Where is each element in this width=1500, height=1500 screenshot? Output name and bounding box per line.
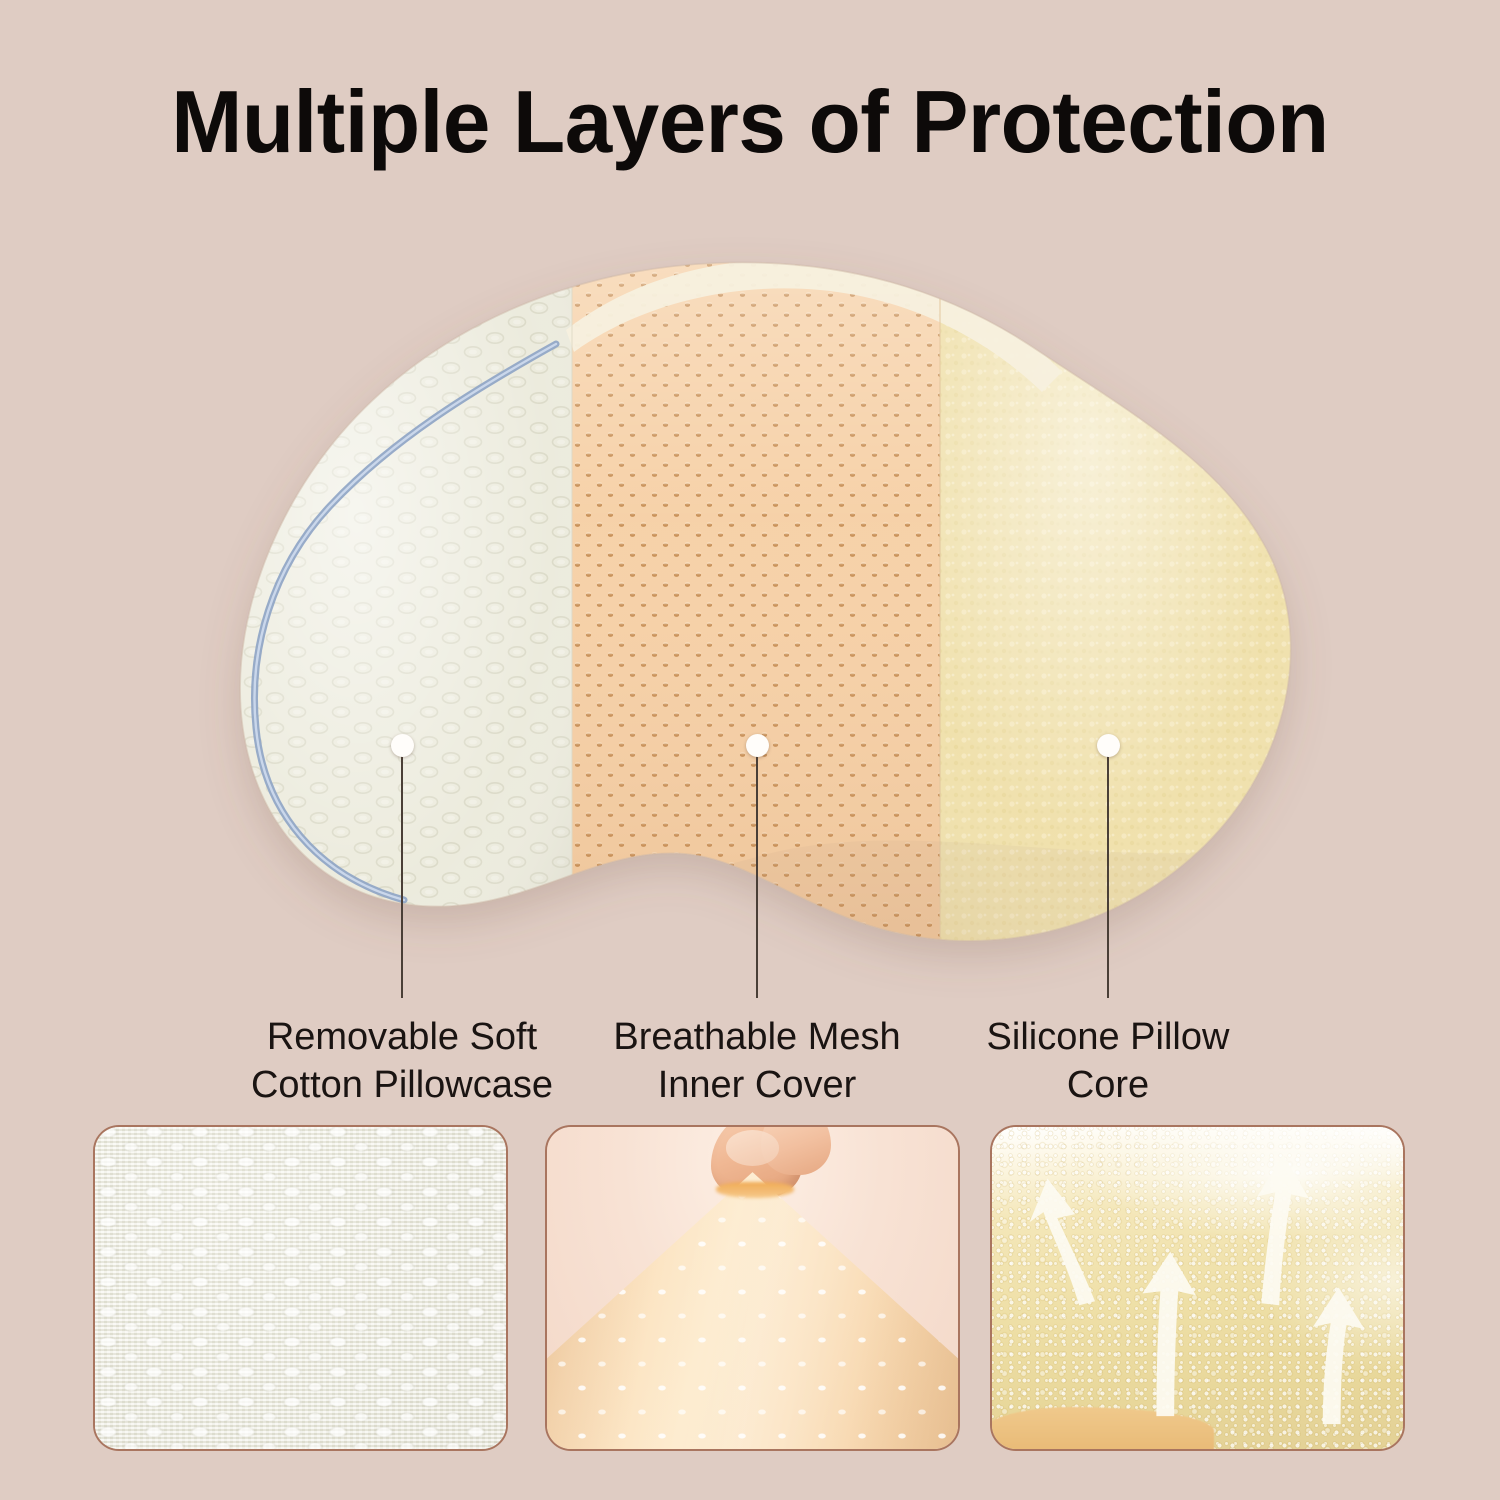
- callout-label-silicone-core: Silicone Pillow Core: [868, 1014, 1348, 1110]
- callout-dot-cotton[interactable]: [391, 734, 414, 757]
- airflow-arrow-4: [1313, 1287, 1364, 1424]
- leader-line-core: [1107, 752, 1109, 998]
- thumbnail-mesh-stretch[interactable]: [545, 1125, 960, 1451]
- leader-line-mesh: [756, 752, 758, 998]
- airflow-arrow-1: [1030, 1179, 1095, 1306]
- mesh-stretch-image: [547, 1127, 958, 1449]
- cotton-fabric-texture: [93, 1125, 508, 1451]
- pillow-illustration: [0, 0, 1500, 1060]
- airflow-arrow-3: [1257, 1155, 1308, 1306]
- infographic-canvas: Multiple Layers of Protection: [0, 0, 1500, 1500]
- mesh-pinch-point: [716, 1182, 794, 1198]
- pillow-svg: [0, 0, 1500, 1060]
- cotton-fabric-image: [95, 1127, 506, 1449]
- airflow-arrows: [992, 1127, 1403, 1450]
- thumbnail-foam-airflow[interactable]: [990, 1125, 1405, 1451]
- callout-dot-core[interactable]: [1097, 734, 1120, 757]
- leader-line-cotton: [401, 752, 403, 998]
- callout-dot-mesh[interactable]: [746, 734, 769, 757]
- thumbnail-cotton-fabric[interactable]: [93, 1125, 508, 1451]
- foam-airflow-image: [992, 1127, 1403, 1449]
- pillow-body: [180, 200, 1370, 1030]
- fingernail-icon: [726, 1130, 779, 1165]
- airflow-arrow-2: [1143, 1252, 1196, 1416]
- cotton-pillowcase-layer: [180, 200, 600, 1030]
